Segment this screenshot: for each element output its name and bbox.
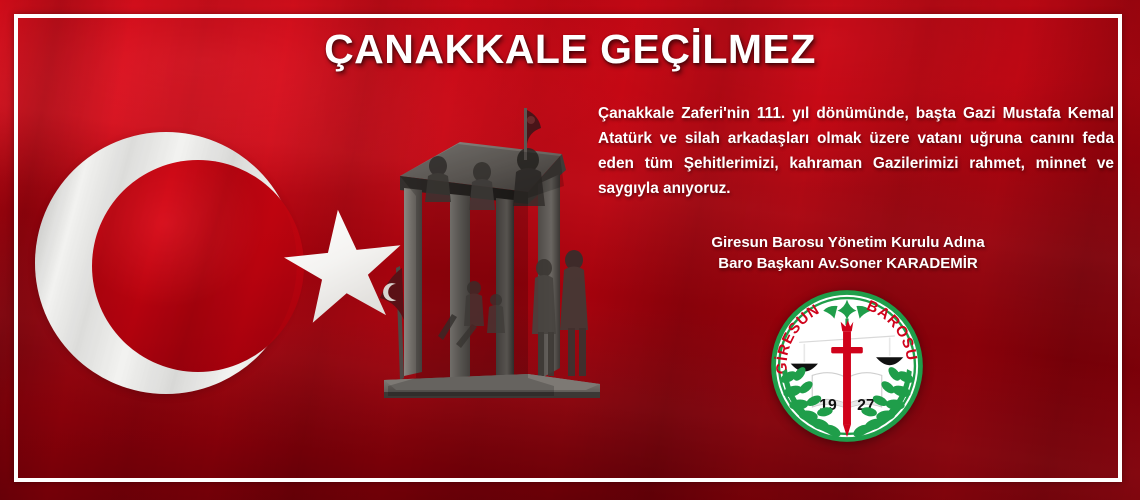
signature-line-1: Giresun Barosu Yönetim Kurulu Adına: [598, 232, 1098, 253]
commemoration-message: Çanakkale Zaferi'nin 111. yıl dönümünde,…: [598, 101, 1114, 201]
crescent-icon: [35, 132, 297, 394]
signature-block: Giresun Barosu Yönetim Kurulu Adına Baro…: [598, 232, 1098, 274]
page-title: ÇANAKKALE GEÇİLMEZ: [0, 26, 1140, 73]
giresun-bar-association-logo: GİRESUN BAROSU 1: [768, 287, 926, 445]
canakkale-commemoration-banner: ÇANAKKALE GEÇİLMEZ Çanakkale Zaferi'nin …: [0, 0, 1140, 500]
monument-icon: [378, 100, 606, 400]
signature-line-2: Baro Başkanı Av.Soner KARADEMİR: [598, 253, 1098, 274]
